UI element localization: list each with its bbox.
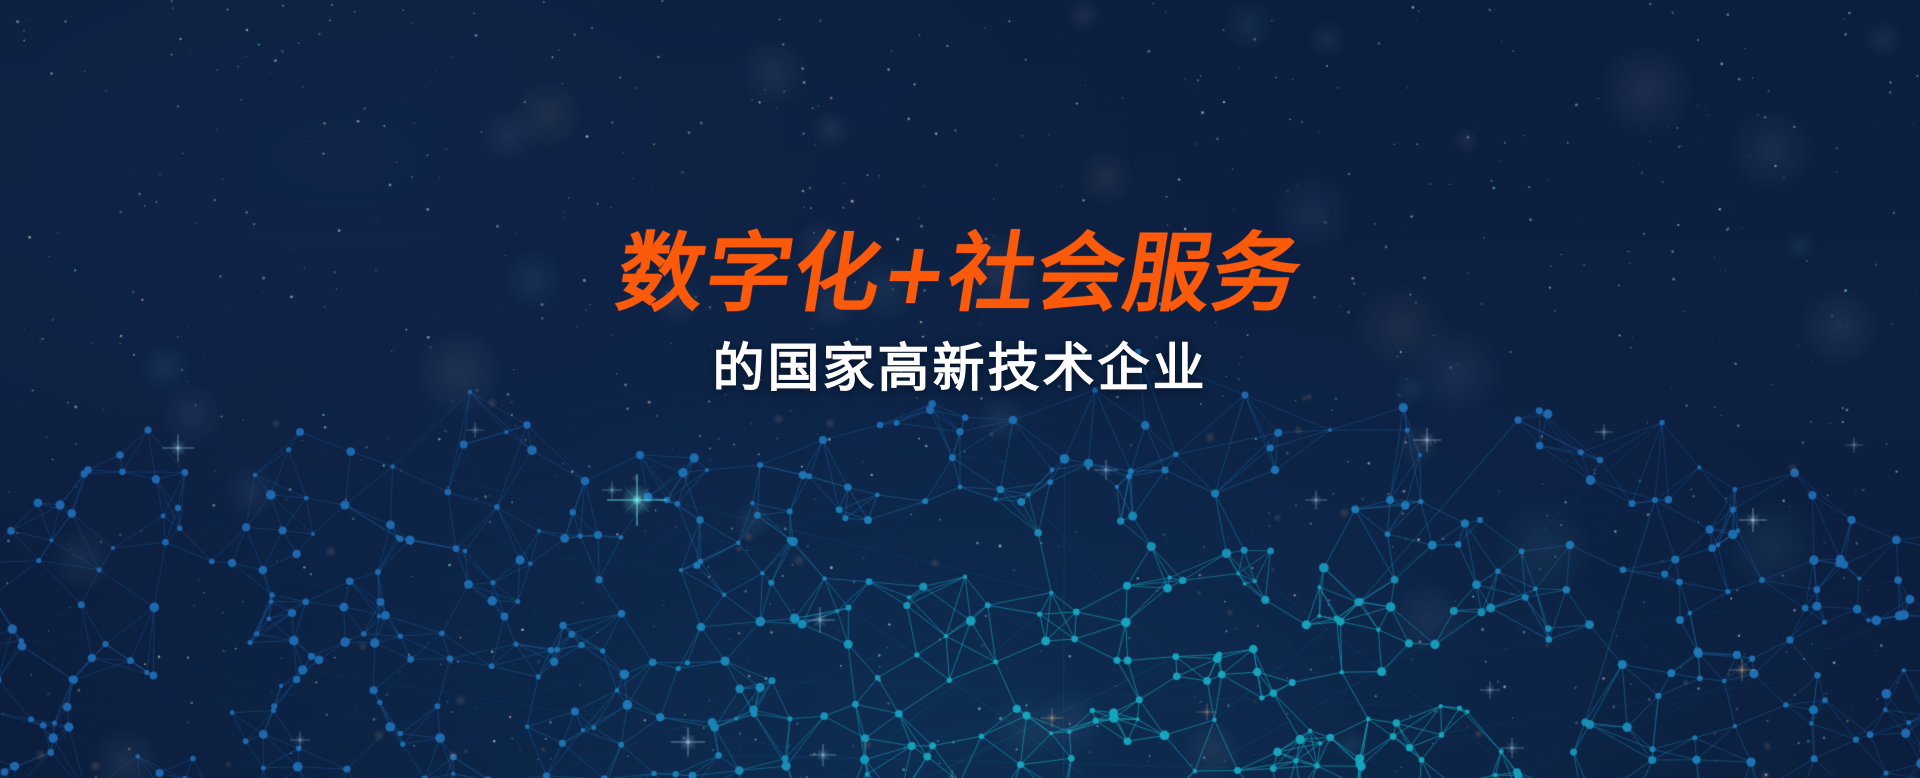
banner-subtitle: 的国家高新技术企业 [0,339,1920,399]
banner-title: 数字化+社会服务 [0,228,1920,320]
hero-banner: 数字化+社会服务 的国家高新技术企业 [0,0,1920,778]
